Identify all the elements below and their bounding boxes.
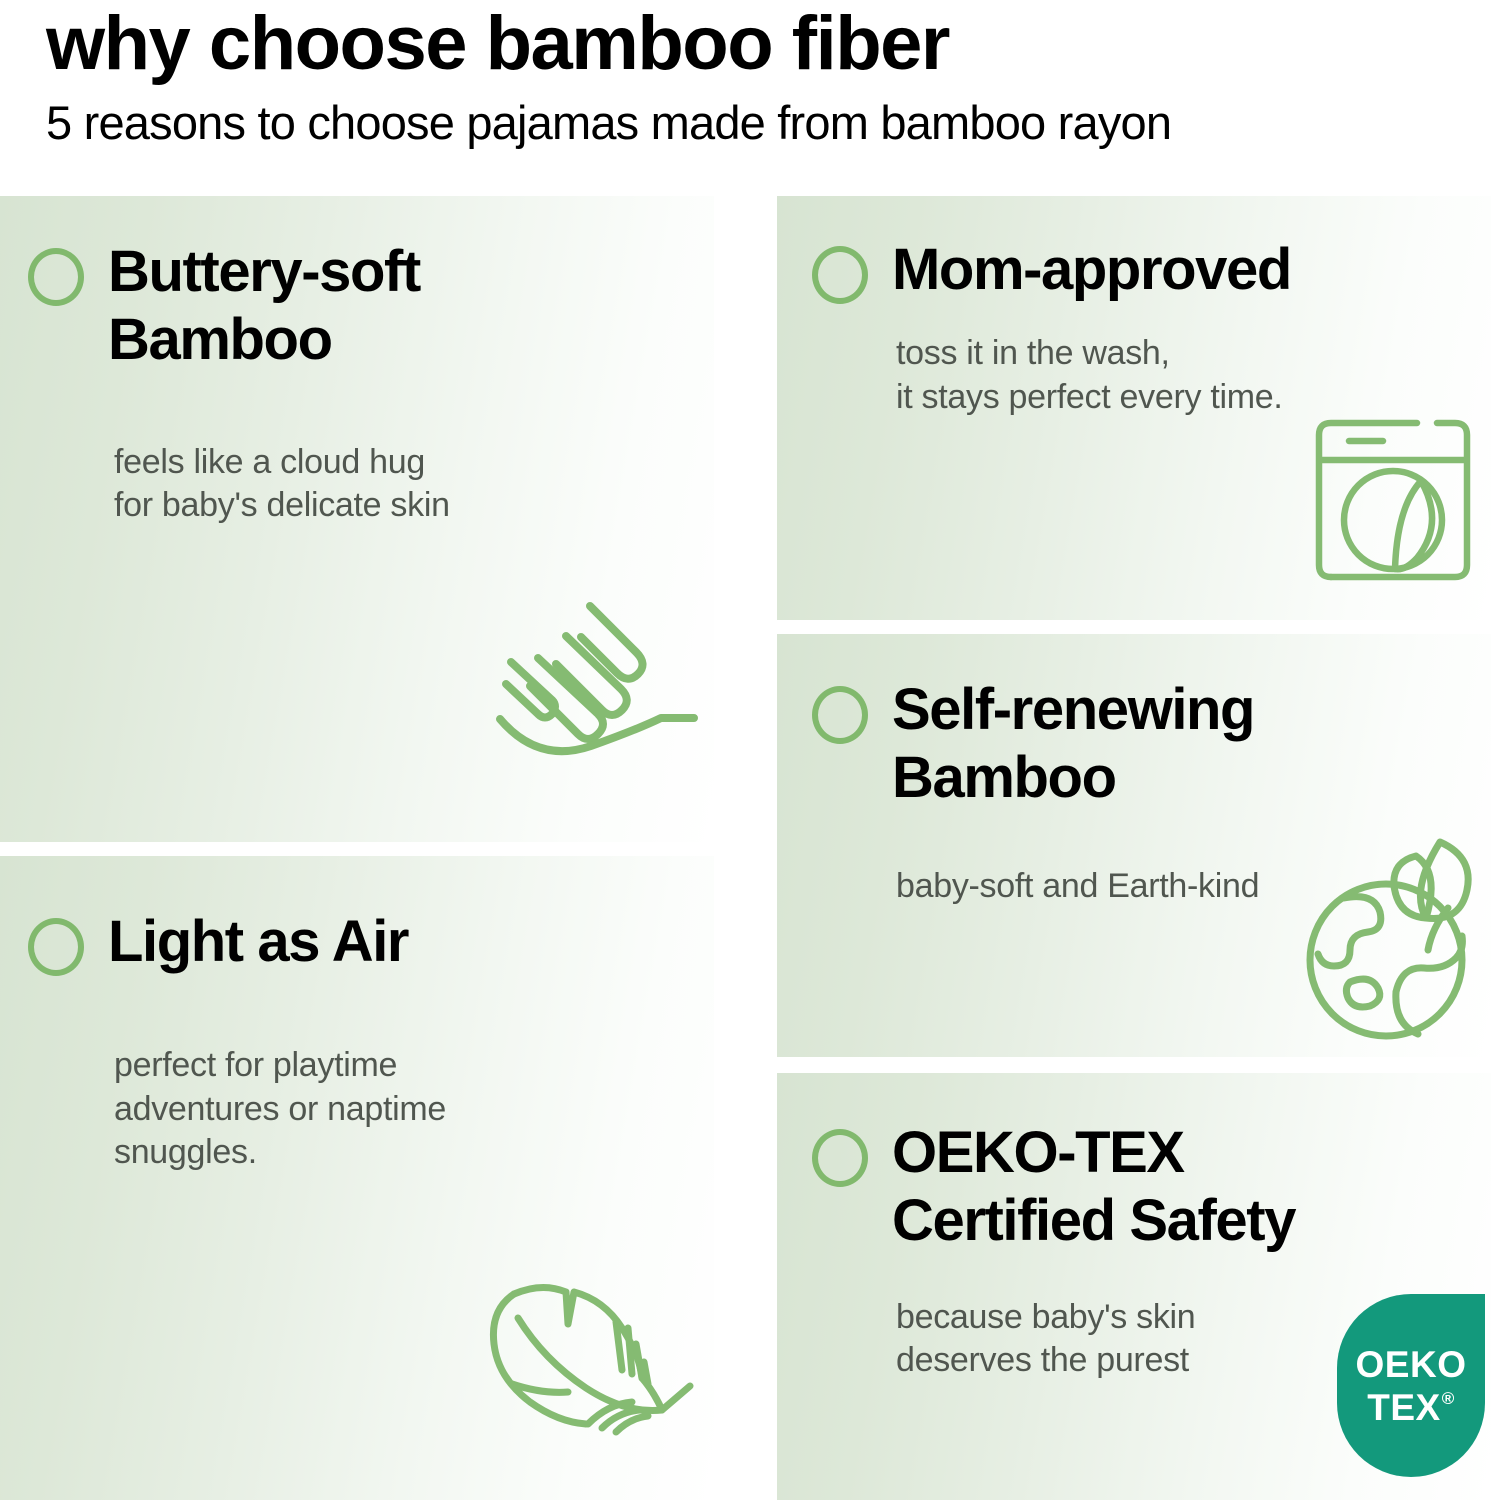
oeko-badge-line-2: TEX ® [1367, 1389, 1455, 1426]
oeko-badge-tex-text: TEX [1367, 1389, 1440, 1426]
card-title: Self-renewing Bamboo [892, 676, 1254, 813]
feature-card-light-as-air: Light as Air perfect for playtime advent… [0, 856, 714, 1500]
card-description: perfect for playtime adventures or napti… [114, 1044, 714, 1175]
card-header: Self-renewing Bamboo [812, 676, 1491, 813]
card-header: OEKO-TEX Certified Safety [812, 1119, 1491, 1256]
oeko-badge-line-1: OEKO [1356, 1346, 1467, 1383]
infographic-page: why choose bamboo fiber 5 reasons to cho… [0, 0, 1491, 1500]
circle-outline-icon [812, 686, 868, 744]
circle-outline-icon [812, 246, 868, 304]
page-header: why choose bamboo fiber 5 reasons to cho… [0, 0, 1491, 180]
card-description: feels like a cloud hug for baby's delica… [114, 441, 714, 528]
card-header: Light as Air [28, 908, 714, 976]
card-description: toss it in the wash, it stays perfect ev… [896, 332, 1491, 419]
feature-card-mom-approved: Mom-approved toss it in the wash, it sta… [777, 196, 1491, 620]
oeko-tex-badge: OEKO TEX ® [1337, 1294, 1485, 1477]
card-title: Mom-approved [892, 236, 1291, 304]
card-header: Mom-approved [812, 236, 1491, 304]
feature-card-self-renewing-bamboo: Self-renewing Bamboo baby-soft and Earth… [777, 634, 1491, 1057]
card-title: Light as Air [108, 908, 408, 976]
registered-trademark-icon: ® [1442, 1390, 1455, 1407]
card-title: OEKO-TEX Certified Safety [892, 1119, 1295, 1256]
card-description: baby-soft and Earth-kind [896, 865, 1491, 909]
circle-outline-icon [28, 248, 84, 306]
circle-outline-icon [28, 918, 84, 976]
page-subtitle: 5 reasons to choose pajamas made from ba… [46, 82, 1491, 146]
circle-outline-icon [812, 1129, 868, 1187]
card-header: Buttery-soft Bamboo [28, 238, 714, 375]
card-title: Buttery-soft Bamboo [108, 238, 420, 375]
page-title: why choose bamboo fiber [46, 0, 1491, 82]
feature-card-buttery-soft-bamboo: Buttery-soft Bamboo feels like a cloud h… [0, 196, 714, 842]
